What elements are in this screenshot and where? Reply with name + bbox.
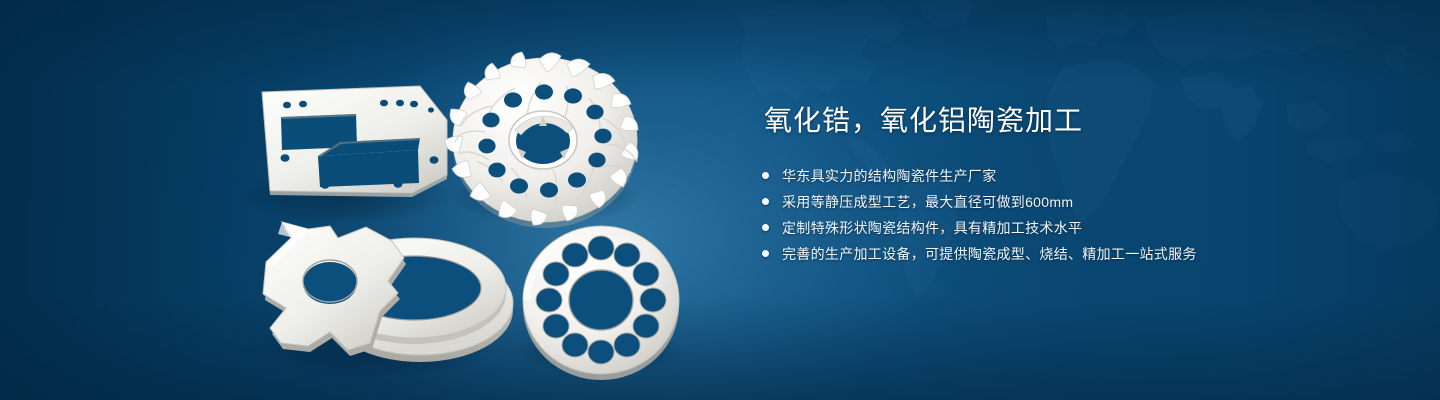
feature-item: 华东具实力的结构陶瓷件生产厂家 [762,164,1302,187]
bullet-dot-icon [762,198,769,205]
banner-feature-list: 华东具实力的结构陶瓷件生产厂家 采用等静压成型工艺，最大直径可做到600mm 定… [762,164,1302,265]
bullet-dot-icon [762,224,769,231]
ceramic-products-photo-group [0,0,720,400]
ceramic-perforated-disc [523,226,679,380]
feature-text: 华东具实力的结构陶瓷件生产厂家 [782,166,997,186]
bullet-dot-icon [762,172,769,179]
feature-item: 定制特殊形状陶瓷结构件，具有精加工技术水平 [762,216,1302,239]
banner-copy-block: 氧化锆，氧化铝陶瓷加工 华东具实力的结构陶瓷件生产厂家 采用等静压成型工艺，最大… [762,104,1302,268]
ceramic-machined-plate [262,86,447,197]
feature-text: 完善的生产加工设备，可提供陶瓷成型、烧结、精加工一站式服务 [782,244,1197,264]
feature-text: 定制特殊形状陶瓷结构件，具有精加工技术水平 [782,218,1082,238]
feature-item: 采用等静压成型工艺，最大直径可做到600mm [762,190,1302,213]
feature-item: 完善的生产加工设备，可提供陶瓷成型、烧结、精加工一站式服务 [762,242,1302,265]
banner-title: 氧化锆，氧化铝陶瓷加工 [764,104,1302,138]
promo-banner: 氧化锆，氧化铝陶瓷加工 华东具实力的结构陶瓷件生产厂家 采用等静压成型工艺，最大… [0,0,1440,400]
feature-text: 采用等静压成型工艺，最大直径可做到600mm [782,192,1073,212]
bullet-dot-icon [762,250,769,257]
